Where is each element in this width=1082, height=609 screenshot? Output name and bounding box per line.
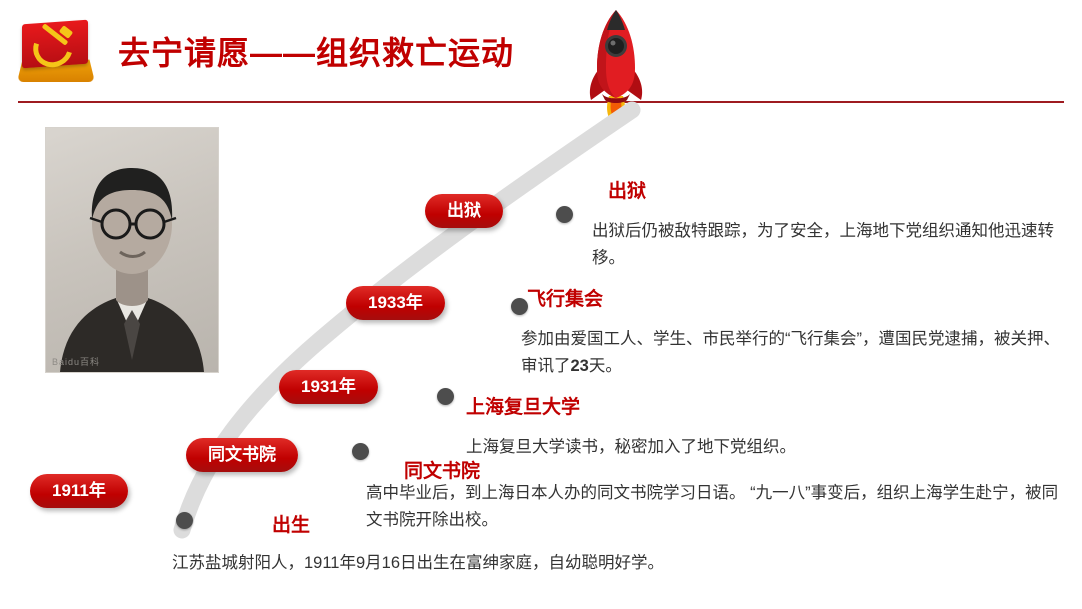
slide-canvas: 去宁请愿——组织救亡运动 [0,0,1082,609]
timeline-pill-4[interactable]: 同文书院 [186,438,298,472]
timeline-title-4: 同文书院 [404,456,480,483]
timeline-node-4 [352,443,369,460]
timeline-node-2 [511,298,528,315]
timeline-body-2-post: 天。 [589,357,622,375]
timeline-node-3 [437,388,454,405]
timeline-body-2-strong: 23 [571,357,589,375]
timeline-title-5: 出生 [272,510,310,537]
timeline-pill-2[interactable]: 1933年 [346,286,445,320]
portrait-watermark: Baidu百科 [52,355,100,368]
timeline-body-3: 上海复旦大学读书，秘密加入了地下党组织。 [466,434,1026,461]
timeline-node-5 [176,512,193,529]
timeline-node-1 [556,206,573,223]
timeline-body-4: 高中毕业后，到上海日本人办的同文书院学习日语。 “九一八”事变后，组织上海学生赴… [366,480,1068,533]
timeline-title-1: 出狱 [608,176,646,203]
page-title: 去宁请愿——组织救亡运动 [118,28,514,74]
timeline-title-3: 上海复旦大学 [466,392,580,419]
party-emblem-icon [20,18,92,84]
timeline-pill-5[interactable]: 1911年 [30,474,128,508]
timeline-pill-1[interactable]: 出狱 [425,194,503,228]
timeline-pill-3[interactable]: 1931年 [279,370,378,404]
timeline-body-5: 江苏盐城射阳人，1911年9月16日出生在富绅家庭，自幼聪明好学。 [172,550,1052,577]
slide-header: 去宁请愿——组织救亡运动 [0,0,1082,102]
timeline-body-2: 参加由爱国工人、学生、市民举行的“飞行集会”，遭国民党逮捕，被关押、审讯了23天… [521,326,1069,379]
timeline-body-1: 出狱后仍被敌特跟踪，为了安全，上海地下党组织通知他迅速转移。 [592,218,1072,271]
timeline-title-2: 飞行集会 [527,284,603,311]
